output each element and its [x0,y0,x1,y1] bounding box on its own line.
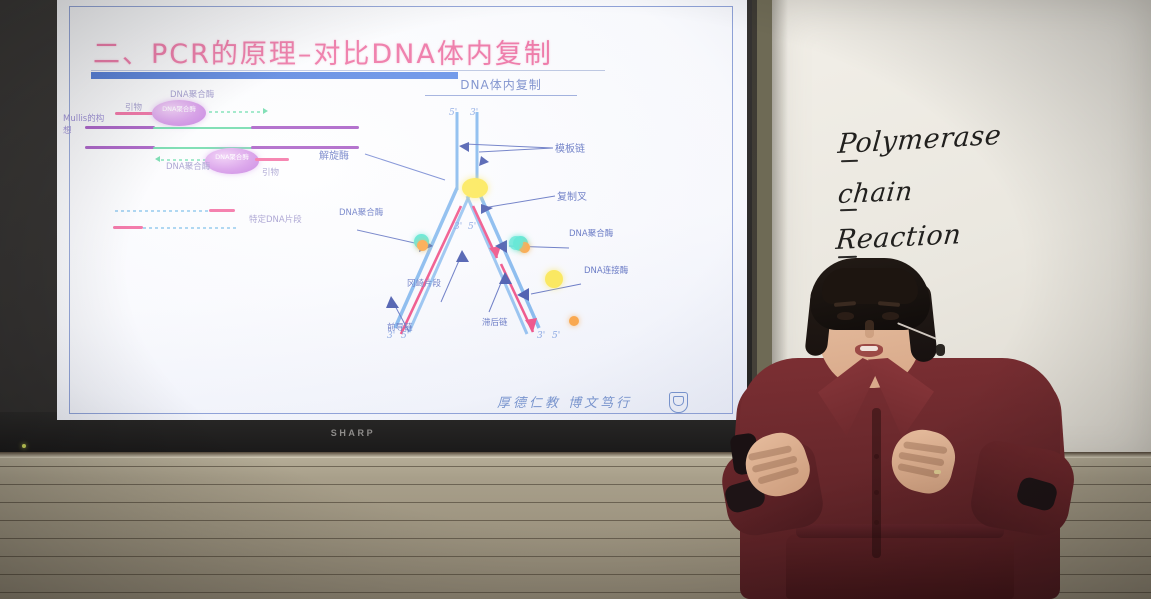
prime-inner-left: 3' [454,222,462,232]
synthesis-arrow-left-icon [155,156,160,162]
lecture-scene: Polymerase chain Reaction SHARP 二、PCR的原理… [0,0,1151,599]
eye-right [882,312,899,320]
eye-left [837,312,854,320]
ligase-blob [545,270,563,288]
coat-button [874,454,879,459]
polymerase-left-label: DNA聚合酶 [339,206,383,218]
presenter [700,258,1100,599]
polymerase-top-label: DNA聚合酶 [170,88,214,100]
mouth [855,344,883,357]
duplex1-left-purple [85,126,155,129]
polymerase-oval-top: DNA聚合酶 [152,100,206,126]
primer-top-strand [115,112,155,115]
polymerase-oval-bottom: DNA聚合酶 [205,148,259,174]
right-panel-header: DNA体内复制 [425,76,577,93]
fragment-pink-upper [209,209,235,212]
duplex1-mid-green [153,127,253,129]
finger-ring [934,470,941,474]
title-accent-bar [91,72,458,79]
fragment-dots-lower [143,227,239,229]
headset-mic-capsule-icon [936,344,945,356]
prime-inner-right: 5' [468,222,476,232]
coat-placket [872,408,881,558]
slide-watermark-text: 厚德仁教 博文笃行 [497,392,632,411]
template-strand-label: 模板链 [555,140,585,155]
presentation-slide[interactable]: 二、PCR的原理–对比DNA体内复制 DNA体内复制 Mullis的构想 DNA… [57,0,747,420]
helicase-blob [462,178,488,198]
specific-fragment-label: 特定DNA片段 [249,213,302,225]
coat-button [874,490,879,495]
prime-bottom-right: 3' [537,331,545,341]
power-led-indicator [22,444,26,448]
duplex1-right-purple [251,126,359,129]
polymerase-blob-left-core [417,240,428,251]
coat-belt [796,524,1004,538]
primer-bottom-label: 引物 [262,166,279,178]
whiteboard-line-chain: chain [837,177,915,210]
polymerase-bottom-label: DNA聚合酶 [166,160,210,172]
coat-button [874,520,879,525]
helicase-label: 解旋酶 [319,147,349,162]
synthesis-dots-top [209,111,265,113]
okazaki-end-blob [569,316,579,326]
replication-fork-label: 复制叉 [557,188,587,203]
polymerase-blob-right-halo [509,236,523,250]
title-rule [91,70,605,71]
lagging-strand-label: 滞后链 [482,316,508,328]
polymerase-right-label: DNA聚合酶 [569,227,613,239]
fragment-dots-upper [115,210,211,212]
prime-bottom-right-2: 5' [552,331,560,341]
okazaki-label: 冈崎片段 [407,277,441,289]
duplex2-left-purple [85,146,155,149]
nose [865,320,874,338]
leading-strand-label: 前导链 [387,321,413,333]
university-shield-icon [669,392,688,413]
coat-skirt [786,534,1014,599]
primer-bottom-strand [255,158,289,161]
slide-title: 二、PCR的原理–对比DNA体内复制 [93,32,553,71]
fragment-pink-lower [113,226,143,229]
hair-bangs [822,268,918,304]
whiteboard-line-reaction: Reaction [835,219,963,256]
synthesis-arrow-right-icon [263,108,268,114]
display-brand-logo: SHARP [313,428,393,438]
prime-top-left: 5' [449,108,457,118]
ligase-label: DNA连接酶 [584,264,628,276]
mullis-caption: Mullis的构想 [63,113,107,137]
prime-top-right: 3' [470,108,478,118]
